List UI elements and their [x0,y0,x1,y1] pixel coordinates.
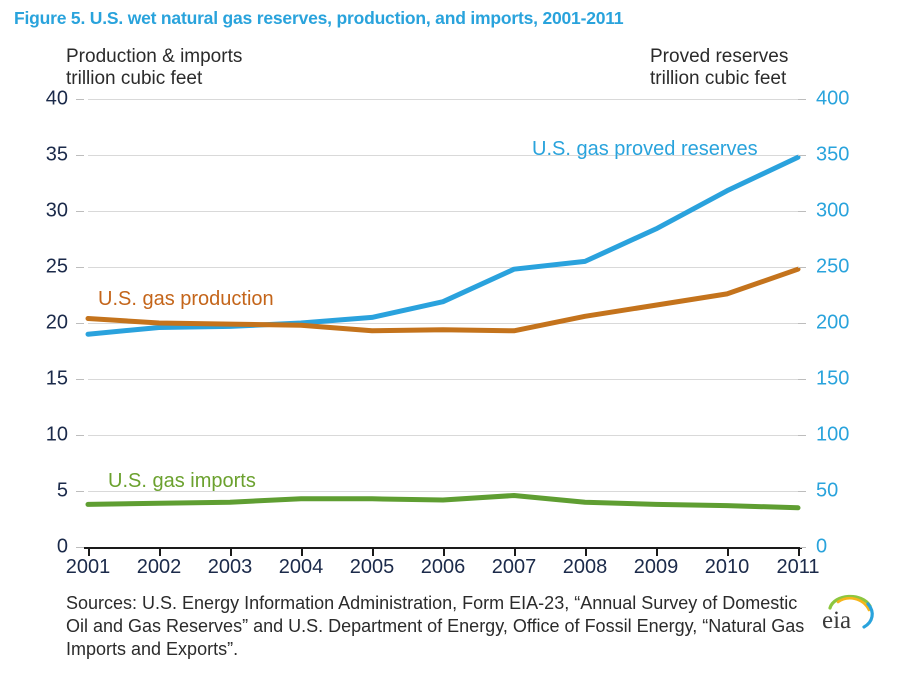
x-axis-tick [727,547,729,556]
y-axis-label-right: 350 [816,144,849,167]
x-axis-tick [301,547,303,556]
y-axis-label-left: 40 [12,88,68,111]
series-label-production: U.S. gas production [98,288,274,311]
left-axis-header: Production & imports trillion cubic feet [66,46,242,90]
gridline [88,435,798,436]
y-axis-label-right: 400 [816,88,849,111]
gridline [88,323,798,324]
gridline [88,211,798,212]
y-axis-tick-left [76,155,84,156]
x-axis-label: 2003 [208,556,253,579]
y-axis-tick-left [76,323,84,324]
y-axis-label-right: 150 [816,368,849,391]
right-axis-header: Proved reserves trillion cubic feet [650,46,788,90]
y-axis-label-right: 200 [816,312,849,335]
x-axis-tick [88,547,90,556]
x-axis-tick [159,547,161,556]
x-axis-tick [443,547,445,556]
y-axis-tick-right [798,323,806,324]
y-axis-tick-left [76,547,84,548]
x-axis-label: 2005 [350,556,395,579]
y-axis-label-left: 5 [12,480,68,503]
series-label-imports: U.S. gas imports [108,470,256,493]
x-axis-label: 2004 [279,556,324,579]
right-axis-header-line2: trillion cubic feet [650,68,788,90]
y-axis-tick-right [798,379,806,380]
x-axis-tick [514,547,516,556]
x-axis-label: 2011 [776,556,819,579]
y-axis-tick-right [798,99,806,100]
x-axis-label: 2008 [563,556,608,579]
x-axis-label: 2007 [492,556,537,579]
y-axis-tick-right [798,435,806,436]
y-axis-label-left: 10 [12,424,68,447]
y-axis-tick-left [76,379,84,380]
y-axis-tick-left [76,491,84,492]
right-axis-header-line1: Proved reserves [650,46,788,68]
y-axis-tick-left [76,99,84,100]
y-axis-tick-right [798,491,806,492]
x-axis-tick [798,547,800,556]
y-axis-label-right: 50 [816,480,838,503]
gridline [88,379,798,380]
eia-logo: eia [818,588,880,634]
y-axis-tick-right [798,155,806,156]
x-axis-label: 2002 [137,556,182,579]
x-axis-label: 2001 [66,556,111,579]
y-axis-label-right: 300 [816,200,849,223]
y-axis-label-right: 250 [816,256,849,279]
x-axis-tick [585,547,587,556]
series-label-reserves: U.S. gas proved reserves [532,138,758,161]
y-axis-tick-left [76,267,84,268]
y-axis-label-left: 30 [12,200,68,223]
y-axis-tick-right [798,267,806,268]
y-axis-label-left: 15 [12,368,68,391]
y-axis-label-left: 25 [12,256,68,279]
y-axis-label-left: 35 [12,144,68,167]
page-title: Figure 5. U.S. wet natural gas reserves,… [14,8,623,29]
gridline [88,267,798,268]
x-axis-label: 2006 [421,556,466,579]
y-axis-label-right: 100 [816,424,849,447]
y-axis-tick-left [76,211,84,212]
x-axis-tick [656,547,658,556]
gridline [88,99,798,100]
x-axis-tick [372,547,374,556]
y-axis-label-left: 20 [12,312,68,335]
y-axis-tick-left [76,435,84,436]
x-axis-tick [230,547,232,556]
y-axis-tick-right [798,211,806,212]
x-axis-label: 2009 [634,556,679,579]
left-axis-header-line1: Production & imports [66,46,242,68]
x-axis-label: 2010 [705,556,750,579]
svg-text:eia: eia [822,607,851,634]
y-axis-label-left: 0 [12,536,68,559]
left-axis-header-line2: trillion cubic feet [66,68,242,90]
source-note: Sources: U.S. Energy Information Adminis… [66,592,806,661]
